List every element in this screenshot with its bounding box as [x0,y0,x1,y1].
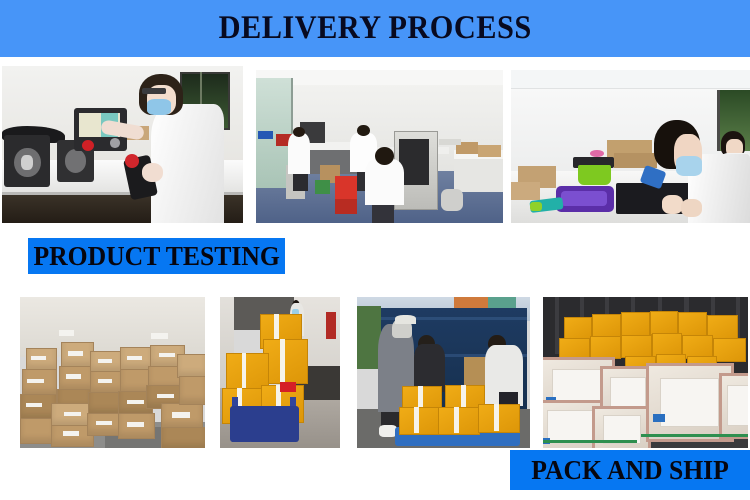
page-title: DELIVERY PROCESS [218,12,531,45]
photo-pack-ship-4 [543,297,748,448]
photo-product-testing-2 [256,70,503,223]
photo-scene [543,297,748,448]
photo-scene [511,70,750,223]
photo-pack-ship-1 [20,297,205,448]
page-header-banner: DELIVERY PROCESS [0,0,750,57]
photo-scene [220,297,340,448]
photo-scene [357,297,530,448]
photo-product-testing-3 [511,70,750,223]
section-badge-pack-and-ship: PACK AND SHIP [510,450,750,490]
photo-scene [2,66,243,223]
photo-product-testing-1 [2,66,243,223]
section-badge-label: PACK AND SHIP [531,457,729,484]
photo-pack-ship-3 [357,297,530,448]
photo-scene [256,70,503,223]
section-badge-label: PRODUCT TESTING [33,243,279,270]
photo-scene [20,297,205,448]
photo-pack-ship-2 [220,297,340,448]
section-badge-product-testing: PRODUCT TESTING [28,238,285,274]
